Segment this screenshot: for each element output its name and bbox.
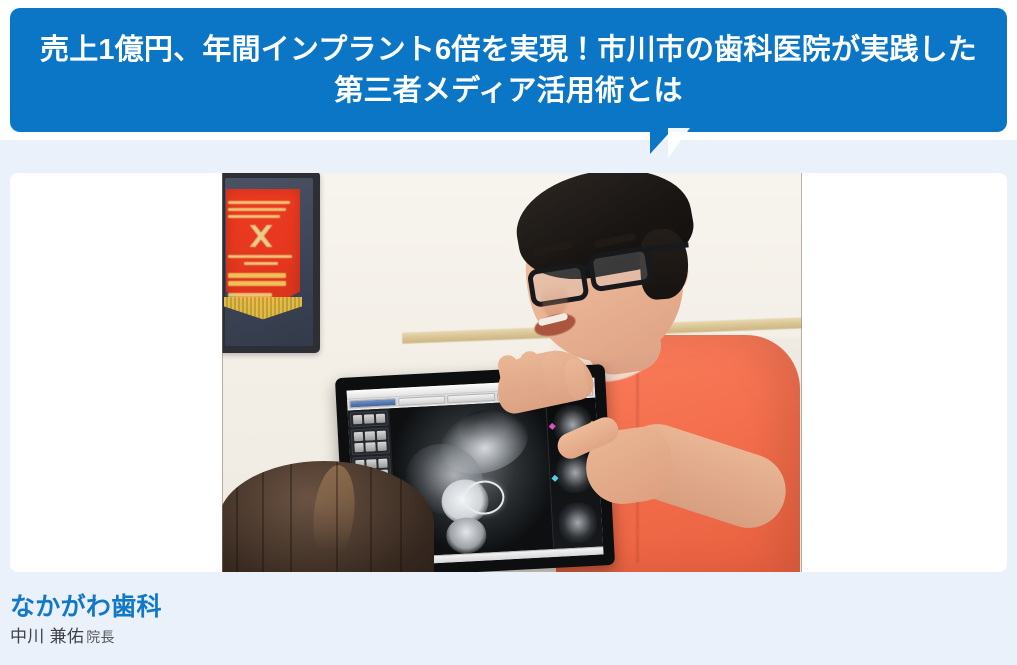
doctor-line: 中川 兼佑院長: [10, 626, 610, 648]
doctor-name: 中川 兼佑: [10, 627, 84, 646]
photo-left-edge: [222, 173, 223, 572]
photo-caption: なかがわ歯科 中川 兼佑院長: [10, 592, 610, 648]
interview-photo: [222, 173, 802, 572]
pennant-text-line: [244, 262, 278, 265]
tool-button-icon: [365, 431, 375, 440]
pennant-text-line: [228, 255, 292, 258]
tool-button-icon: [377, 442, 387, 451]
pennant-text-line: [228, 215, 280, 218]
pennant-text-line: [228, 201, 290, 204]
hair-strand: [236, 461, 238, 572]
photo-card: [10, 173, 1007, 572]
balloon-tail-shadow-icon: [668, 128, 690, 158]
tool-group: [351, 427, 390, 455]
framed-pennant: [222, 173, 320, 353]
photo-right-edge: [801, 173, 802, 572]
hair-strand: [370, 461, 372, 572]
hair-strand: [262, 461, 264, 572]
ct-tooth: [445, 517, 487, 555]
pennant-text-line: [228, 273, 286, 278]
pennant-crest-icon: [246, 225, 276, 247]
pennant-text-line: [228, 293, 272, 297]
patient-hair-highlight: [309, 463, 359, 563]
tool-button-icon: [366, 442, 376, 451]
ct-slice-thumbnail: [558, 502, 598, 544]
software-tab: [398, 395, 446, 405]
clinic-name: なかがわ歯科: [10, 592, 610, 622]
hair-strand: [400, 461, 402, 572]
pennant-text-line: [228, 281, 286, 286]
tool-button-icon: [378, 459, 388, 468]
tool-button-icon: [376, 431, 386, 440]
pennant-text-line: [228, 208, 286, 211]
tool-group: [350, 410, 389, 427]
software-tab: [447, 393, 495, 403]
page-title: 売上1億円、年間インプラント6倍を実現！市川市の歯科医院が実践した第三者メディア…: [36, 30, 981, 112]
headline-balloon-body: 売上1億円、年間インプラント6倍を実現！市川市の歯科医院が実践した第三者メディア…: [10, 8, 1007, 132]
software-tab: [349, 398, 397, 408]
page-root: 売上1億円、年間インプラント6倍を実現！市川市の歯科医院が実践した第三者メディア…: [0, 0, 1017, 665]
tool-button-icon: [364, 414, 374, 423]
headline-balloon: 売上1億円、年間インプラント6倍を実現！市川市の歯科医院が実践した第三者メディア…: [10, 8, 1007, 132]
tool-button-icon: [353, 415, 363, 424]
tool-button-icon: [376, 414, 386, 423]
doctor-title: 院長: [86, 629, 115, 645]
glasses-lens-right: [587, 245, 654, 292]
tool-button-icon: [354, 432, 364, 441]
tool-button-icon: [354, 443, 364, 452]
hair-strand: [336, 461, 338, 572]
hair-strand: [290, 461, 292, 572]
